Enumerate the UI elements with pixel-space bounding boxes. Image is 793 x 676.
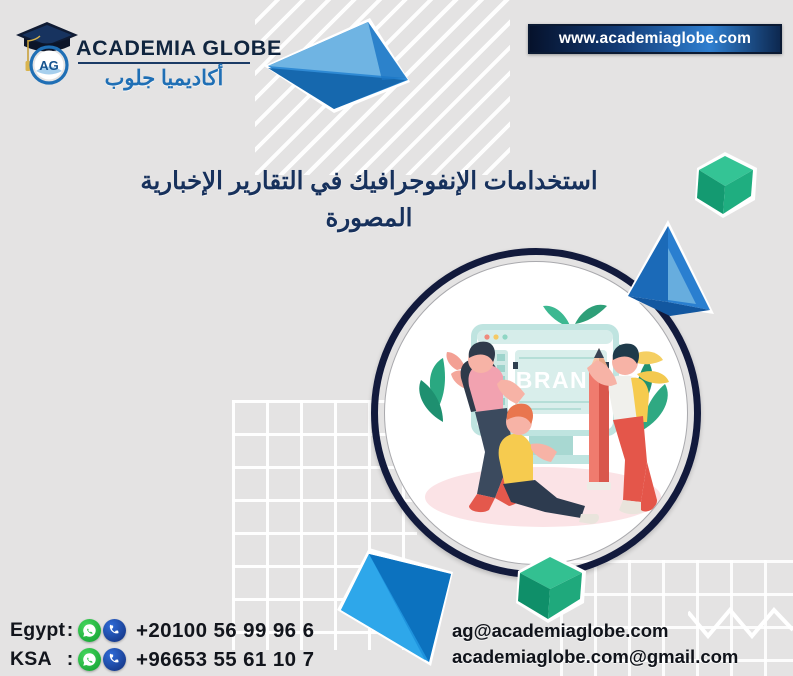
logo-divider [78,62,250,64]
email-address[interactable]: academiaglobe.com@gmail.com [452,644,738,670]
logo-badge-text: AG [39,58,59,73]
website-url-banner[interactable]: www.academiaglobe.com [528,24,782,54]
blue-pyramid-right-shape [618,218,718,328]
logo-name-en: ACADEMIA GLOBE [76,36,282,61]
green-cube-bottom-shape [512,551,590,625]
footer-contacts: Egypt : +20100 56 99 96 6 KSA : +96653 5… [10,616,410,674]
contact-row: Egypt : +20100 56 99 96 6 [10,616,410,645]
contact-label: Egypt [10,619,62,642]
green-cube-top-shape [691,150,761,220]
footer-emails: ag@academiaglobe.com academiaglobe.com@g… [452,618,738,671]
contact-row: KSA : +96653 55 61 10 7 [10,645,410,674]
graduation-cap-icon: AG [14,18,80,88]
whatsapp-icon[interactable] [78,619,101,642]
contact-label: KSA [10,648,62,671]
contact-colon: : [62,619,78,642]
poster-canvas: AG ACADEMIA GLOBE أكاديميا جلوب www.acad… [0,0,793,676]
contact-colon: : [62,648,78,671]
email-address[interactable]: ag@academiaglobe.com [452,618,738,644]
phone-icon[interactable] [103,648,126,671]
blue-diamond-top-shape [262,10,412,115]
whatsapp-icon[interactable] [78,648,101,671]
contact-number[interactable]: +20100 56 99 96 6 [136,619,314,643]
website-url-text: www.academiaglobe.com [559,30,751,48]
contact-number[interactable]: +96653 55 61 10 7 [136,648,314,672]
page-title: استخدامات الإنفوجرافيك في التقارير الإخب… [104,164,634,238]
headline-line-1: استخدامات الإنفوجرافيك في التقارير الإخب… [104,164,634,201]
headline-line-2: المصورة [104,201,634,238]
logo-name-ar: أكاديميا جلوب [74,66,254,91]
phone-icon[interactable] [103,619,126,642]
brand-logo[interactable]: AG ACADEMIA GLOBE أكاديميا جلوب [14,14,264,98]
